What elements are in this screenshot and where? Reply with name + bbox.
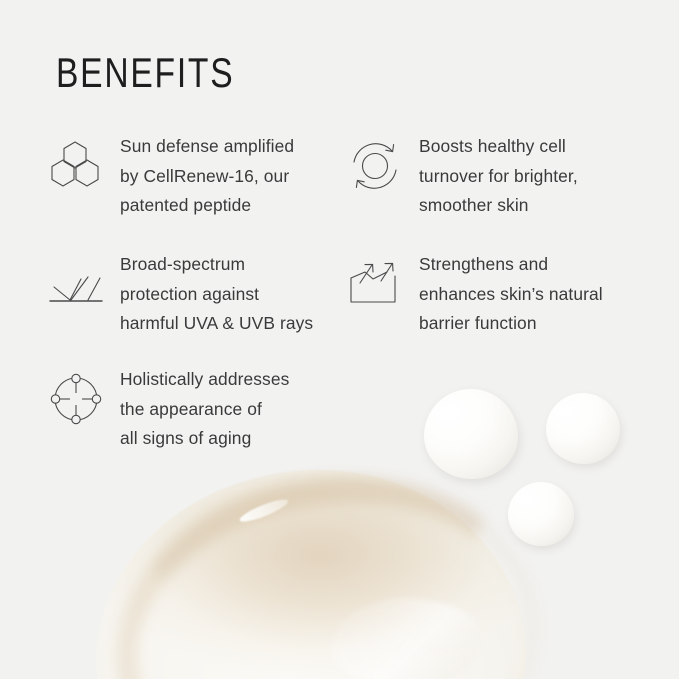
benefit-item: Strengthens and enhances skin’s natural … bbox=[347, 250, 603, 339]
benefit-text: Boosts healthy cell turnover for brighte… bbox=[419, 132, 578, 221]
barrier-strength-icon bbox=[347, 256, 403, 312]
hexagon-cluster-icon bbox=[48, 138, 104, 194]
benefit-item: Holistically addresses the appearance of… bbox=[48, 365, 289, 454]
benefit-text: Sun defense amplified by CellRenew-16, o… bbox=[120, 132, 294, 221]
benefit-text: Strengthens and enhances skin’s natural … bbox=[419, 250, 603, 339]
benefit-item: Broad-spectrum protection against harmfu… bbox=[48, 250, 313, 339]
uv-ray-deflection-icon bbox=[48, 256, 104, 312]
product-benefits-panel: BENEFITS Sun defense amplified by CellRe… bbox=[0, 0, 679, 679]
holistic-circle-icon bbox=[48, 371, 104, 427]
benefit-text: Broad-spectrum protection against harmfu… bbox=[120, 250, 313, 339]
benefit-item: Sun defense amplified by CellRenew-16, o… bbox=[48, 132, 294, 221]
cell-renewal-cycle-icon bbox=[347, 138, 403, 194]
benefits-grid: Sun defense amplified by CellRenew-16, o… bbox=[0, 0, 679, 679]
benefit-item: Boosts healthy cell turnover for brighte… bbox=[347, 132, 578, 221]
benefit-text: Holistically addresses the appearance of… bbox=[120, 365, 289, 454]
